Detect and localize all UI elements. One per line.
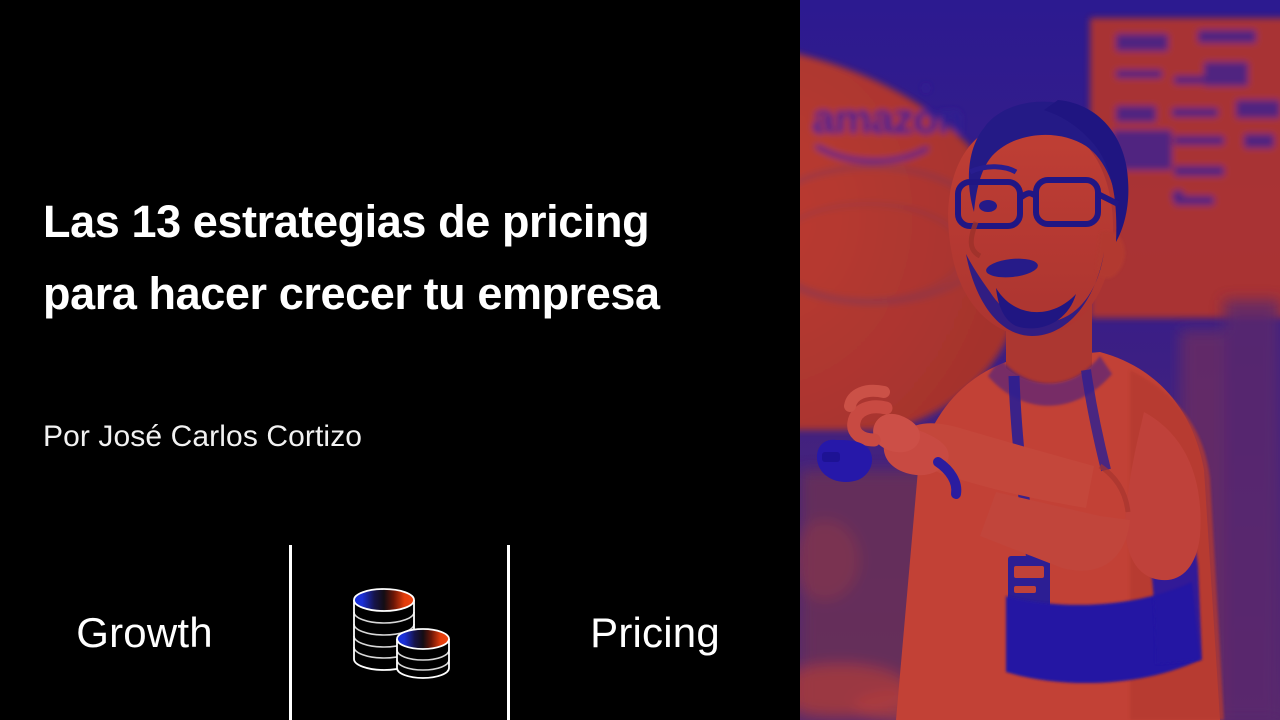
coin-stack-short <box>397 629 449 678</box>
speaker-photo: amazon <box>800 0 1280 720</box>
speaker-photo-duotone: amazon <box>800 0 1280 720</box>
presentation-cover-card: Las 13 estrategias de pricing para hacer… <box>0 0 1280 720</box>
category-label-pricing: Pricing <box>590 609 720 657</box>
author-byline: Por José Carlos Cortizo <box>43 420 362 454</box>
brand-logo-cell[interactable] <box>292 545 507 720</box>
title-line-2: para hacer crecer tu empresa <box>43 258 763 330</box>
page-title: Las 13 estrategias de pricing para hacer… <box>43 186 763 330</box>
coin-stacks-icon <box>340 580 460 685</box>
category-label-growth: Growth <box>76 609 213 657</box>
category-cell-growth[interactable]: Growth <box>0 545 289 720</box>
title-line-1: Las 13 estrategias de pricing <box>43 186 763 258</box>
category-cell-pricing[interactable]: Pricing <box>510 545 800 720</box>
